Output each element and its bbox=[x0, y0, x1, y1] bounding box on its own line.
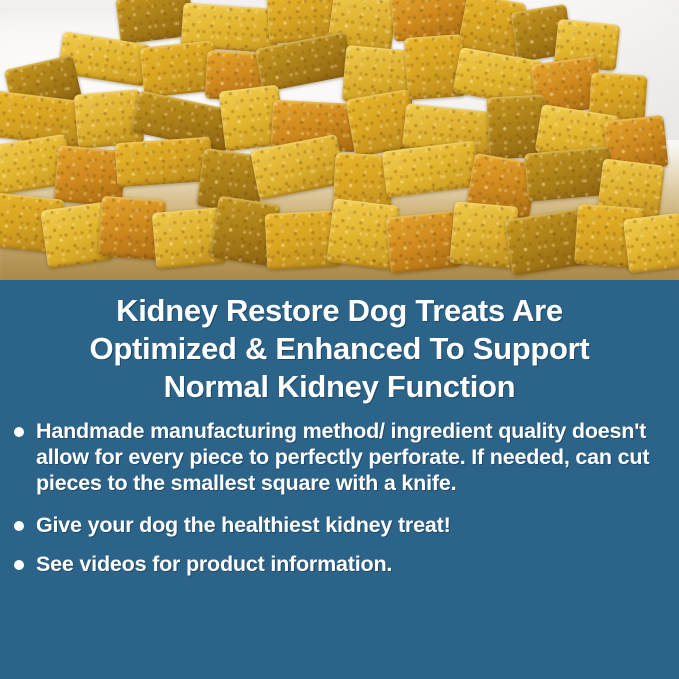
bullet-dot-icon bbox=[14, 521, 24, 531]
headline-line-2: Optimized & Enhanced To Support bbox=[16, 330, 663, 368]
list-item: Handmade manufacturing method/ ingredien… bbox=[12, 418, 673, 496]
bullet-dot-icon bbox=[14, 560, 24, 570]
headline-line-1: Kidney Restore Dog Treats Are bbox=[16, 292, 663, 330]
info-panel: Kidney Restore Dog Treats Are Optimized … bbox=[0, 280, 679, 679]
treat-pile bbox=[0, 0, 679, 280]
list-item-label: Give your dog the healthiest kidney trea… bbox=[36, 512, 673, 538]
product-photo bbox=[0, 0, 679, 280]
list-item: See videos for product information. bbox=[12, 551, 673, 577]
headline-line-3: Normal Kidney Function bbox=[16, 368, 663, 406]
list-item: Give your dog the healthiest kidney trea… bbox=[12, 512, 673, 538]
bullet-dot-icon bbox=[14, 427, 24, 437]
feature-bullet-list: Handmade manufacturing method/ ingredien… bbox=[0, 406, 679, 577]
list-item-label: Handmade manufacturing method/ ingredien… bbox=[36, 418, 673, 496]
list-item-label: See videos for product information. bbox=[36, 551, 673, 577]
product-infographic: Kidney Restore Dog Treats Are Optimized … bbox=[0, 0, 679, 679]
page-title: Kidney Restore Dog Treats Are Optimized … bbox=[0, 280, 679, 406]
